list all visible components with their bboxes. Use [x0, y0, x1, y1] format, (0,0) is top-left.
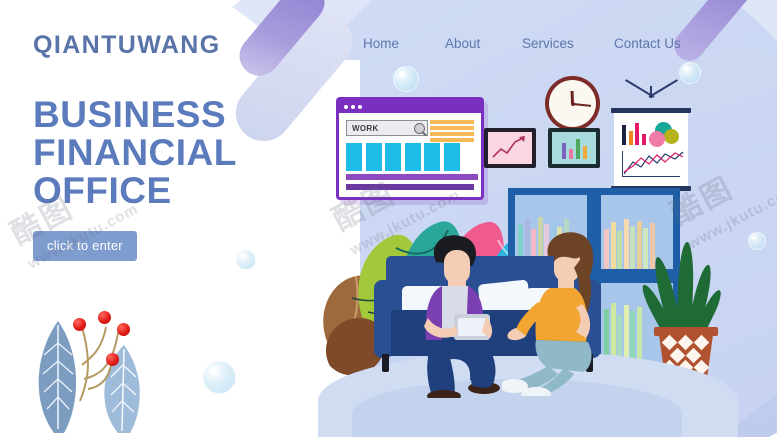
hero-section: BUSINESS FINANCIAL OFFICE click to enter	[33, 96, 293, 261]
berry	[106, 353, 119, 366]
clock-center-pin	[571, 102, 575, 106]
berry	[117, 323, 130, 336]
bar-chart-picture	[548, 128, 600, 168]
berry	[73, 318, 86, 331]
landing-page: QIANTUWANG Home About Services Contact U…	[0, 0, 777, 437]
text-lines-placeholder	[430, 120, 474, 144]
browser-window-mockup: WORK	[336, 97, 484, 200]
decorative-bubble	[236, 250, 256, 270]
main-navigation: Home About Services Contact Us	[355, 36, 700, 58]
picture-mat	[488, 132, 532, 164]
headline-line-3: OFFICE	[33, 170, 172, 211]
clock-minute-hand	[572, 103, 590, 107]
close-icon	[344, 105, 348, 109]
nav-item-contact-us[interactable]: Contact Us	[614, 36, 681, 51]
board-rope-right	[649, 79, 678, 97]
search-icon[interactable]	[414, 123, 425, 134]
line-chart-icon	[488, 132, 532, 164]
headline-line-1: BUSINESS	[33, 94, 226, 135]
search-input-value: WORK	[352, 124, 379, 133]
click-to-enter-button[interactable]: click to enter	[33, 231, 137, 261]
hero-illustration: WORK	[312, 58, 777, 437]
hanging-chart-board	[609, 86, 693, 191]
potted-plant	[642, 248, 728, 376]
picture-mat	[552, 132, 596, 164]
woman-on-couch	[502, 226, 652, 396]
berry	[98, 311, 111, 324]
sofa-arm-left	[374, 280, 391, 358]
page-title: BUSINESS FINANCIAL OFFICE	[33, 96, 293, 210]
headline-line-2: FINANCIAL	[33, 132, 237, 173]
decorative-bubble	[203, 361, 236, 394]
maximize-icon	[358, 105, 362, 109]
woman-pants	[536, 340, 592, 372]
line-chart-picture	[484, 128, 536, 168]
minimize-icon	[351, 105, 355, 109]
leaf-illustration	[18, 305, 178, 433]
browser-content: WORK	[339, 113, 481, 200]
search-input[interactable]: WORK	[346, 120, 428, 136]
board-line-chart	[623, 148, 685, 176]
man-head	[444, 250, 470, 284]
board-surface	[614, 113, 688, 186]
bar-chart-placeholder	[346, 143, 460, 171]
content-bars-placeholder	[346, 174, 478, 194]
nav-item-home[interactable]: Home	[363, 36, 399, 51]
wall-clock	[545, 76, 600, 131]
leaf-berry-decoration	[18, 305, 178, 433]
nav-item-services[interactable]: Services	[522, 36, 574, 51]
sofa-leg	[382, 354, 389, 372]
man-leg-2	[470, 374, 495, 388]
board-venn-diagram	[647, 122, 681, 148]
browser-title-bar	[339, 100, 481, 113]
board-bar-chart	[622, 123, 646, 145]
nav-item-about[interactable]: About	[445, 36, 480, 51]
tablet-screen	[458, 318, 486, 336]
site-logo[interactable]: QIANTUWANG	[33, 31, 221, 60]
clock-face	[549, 80, 596, 127]
